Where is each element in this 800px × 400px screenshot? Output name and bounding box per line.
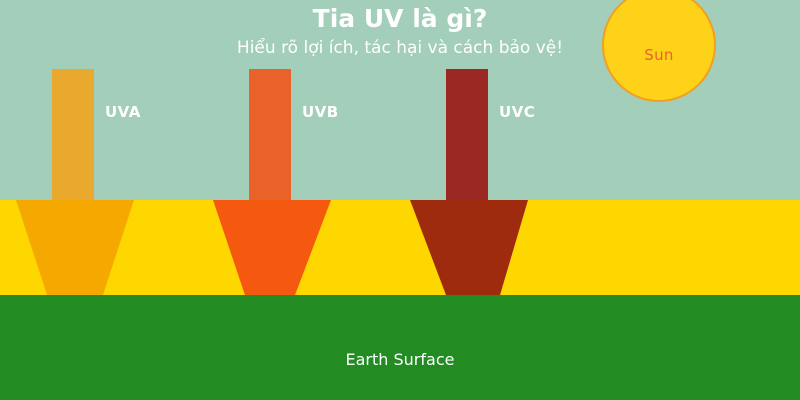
uv-diagram: UVA UVB UVC Sun Tia UV là gì? Hiểu rõ lợ… (0, 0, 800, 400)
page-subtitle: Hiểu rõ lợi ích, tác hại và cách bảo vệ! (0, 38, 800, 58)
page-title: Tia UV là gì? (0, 4, 800, 33)
ray-label-uvb: UVB (302, 103, 339, 121)
ray-beam-uva (52, 69, 94, 200)
ray-beam-uvc (446, 69, 488, 200)
earth-surface-label: Earth Surface (0, 350, 800, 369)
earth-surface-layer (0, 295, 800, 400)
ray-label-uva: UVA (105, 103, 141, 121)
ray-beam-uvb (249, 69, 291, 200)
ray-label-uvc: UVC (499, 103, 535, 121)
